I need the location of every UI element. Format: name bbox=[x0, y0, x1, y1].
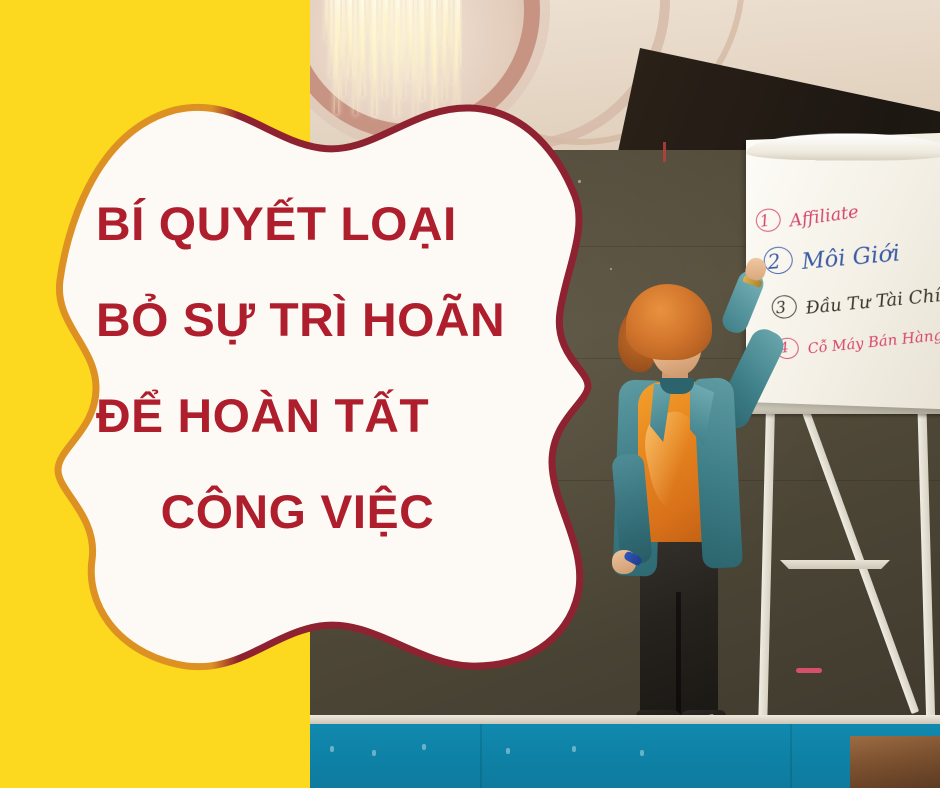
blazer-collar bbox=[660, 378, 694, 394]
flipchart-item-text: Affiliate bbox=[788, 202, 859, 232]
stage-fastener bbox=[330, 746, 334, 752]
headline-line-2: BỎ SỰ TRÌ HOÃN bbox=[96, 272, 545, 368]
wall-tape-mark bbox=[663, 142, 666, 162]
poster-canvas: 1Affiliate2Môi Giới3Đầu Tư Tài Chính4Cỗ … bbox=[0, 0, 940, 788]
stage-wood-block bbox=[850, 736, 940, 788]
stage-fastener bbox=[572, 746, 576, 752]
stage-front-face bbox=[310, 724, 940, 788]
jeans-leg-split bbox=[676, 592, 681, 722]
stage-panel-seam-1 bbox=[480, 724, 482, 788]
flipchart-item-text: Cỗ Máy Bán Hàng bbox=[807, 327, 940, 357]
stage-edge-strip bbox=[310, 715, 940, 724]
headline-line-4: CÔNG VIỆC bbox=[96, 464, 499, 560]
headline-line-1: BÍ QUYẾT LOẠI bbox=[96, 176, 545, 272]
wall-speck bbox=[406, 168, 408, 170]
headline-line-3: ĐỂ HOÀN TẤT bbox=[96, 368, 545, 464]
easel-brace bbox=[780, 560, 890, 569]
flipchart-item-text: Đầu Tư Tài Chính bbox=[805, 283, 940, 319]
speaker-hair bbox=[626, 284, 712, 360]
marker-pen bbox=[796, 668, 822, 673]
flipchart-item-text: Môi Giới bbox=[801, 241, 901, 275]
stage-fastener bbox=[422, 744, 426, 750]
stage-fastener bbox=[372, 750, 376, 756]
stage-fastener bbox=[640, 750, 644, 756]
headline-block: BÍ QUYẾT LOẠI BỎ SỰ TRÌ HOÃN ĐỂ HOÀN TẤT… bbox=[96, 176, 536, 560]
stage-fastener bbox=[506, 748, 510, 754]
stage-panel-seam-2 bbox=[790, 724, 792, 788]
chandelier-icon bbox=[322, 0, 462, 149]
speaker-figure bbox=[600, 262, 780, 740]
easel-right-leg bbox=[918, 410, 936, 730]
wall-speck bbox=[556, 390, 558, 392]
flipchart-paper-curl bbox=[746, 133, 940, 160]
wall-speck bbox=[578, 180, 581, 183]
